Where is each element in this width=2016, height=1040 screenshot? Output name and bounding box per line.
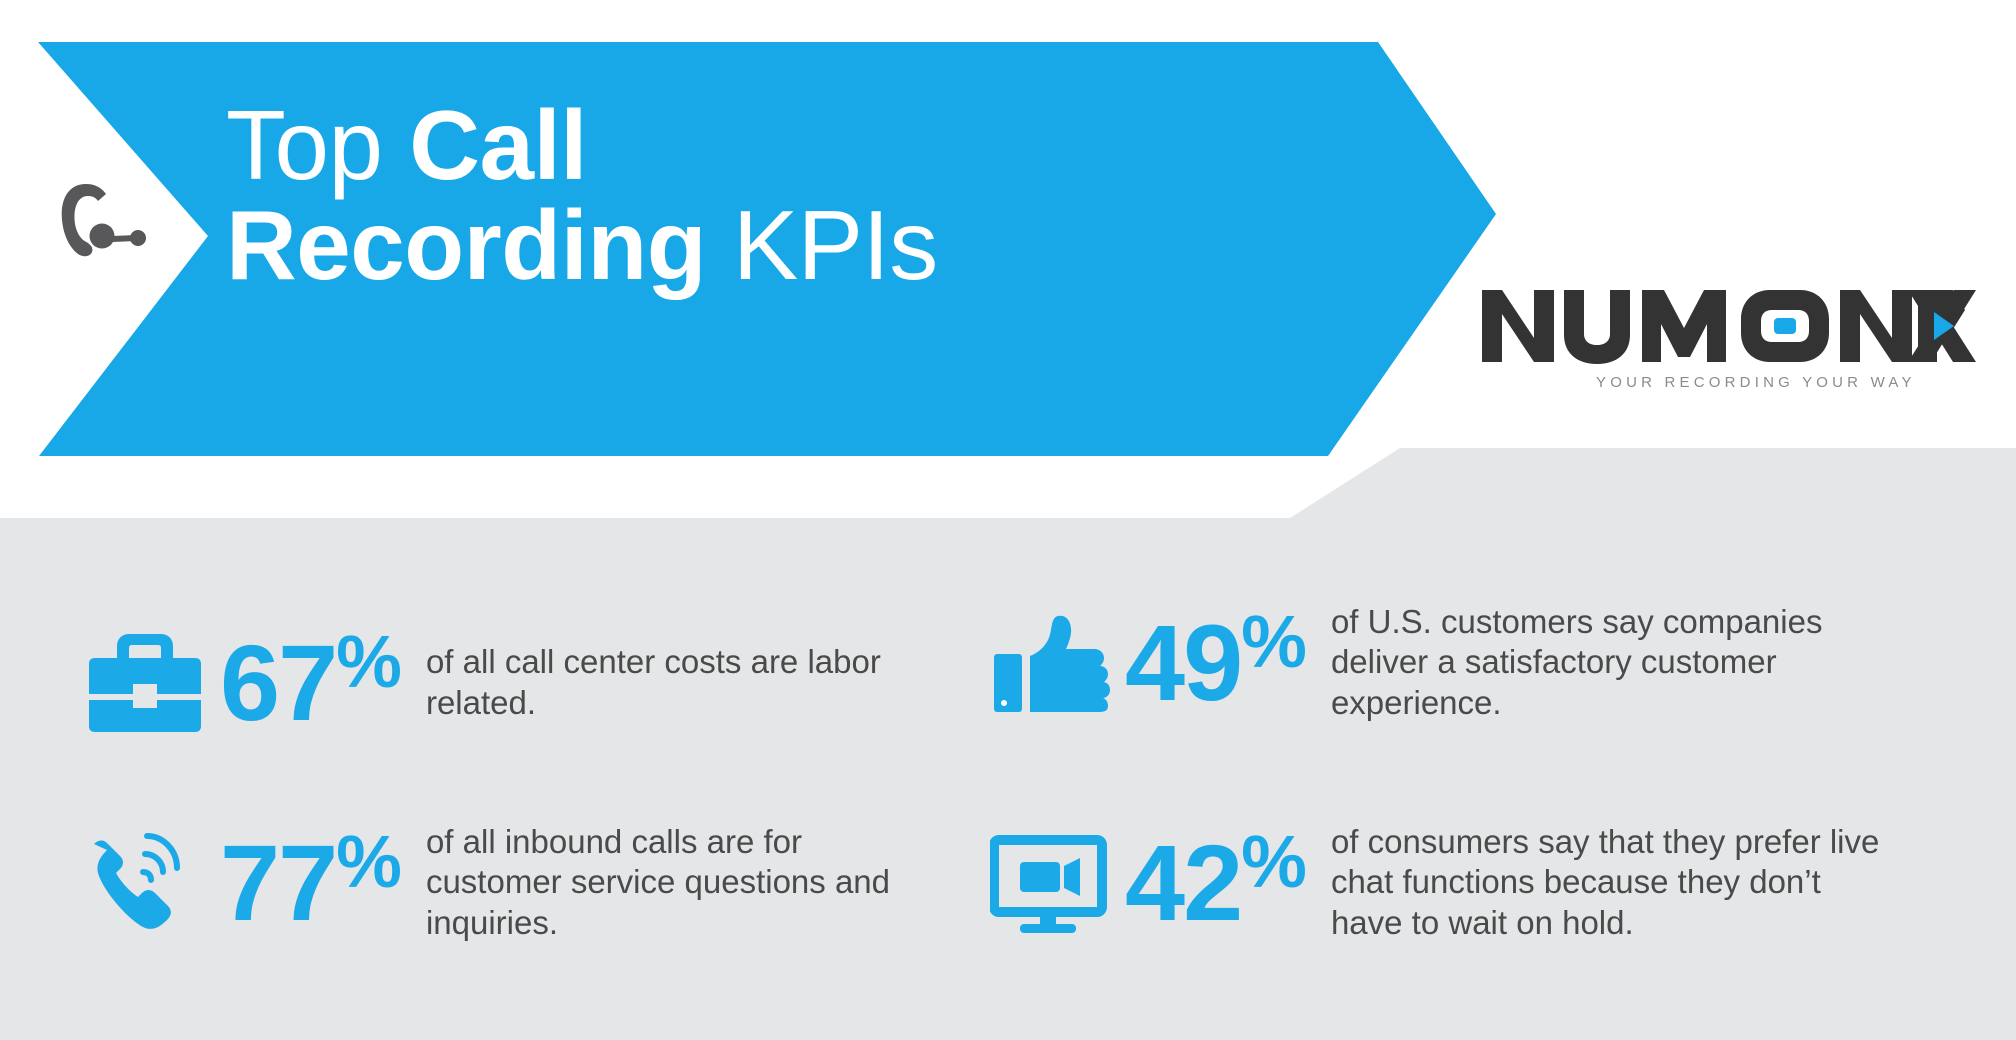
logo-tagline: YOUR RECORDING YOUR WAY: [1596, 374, 1916, 391]
stat-value: 77%: [220, 829, 400, 937]
stat-description: of all inbound calls are for customer se…: [426, 822, 946, 943]
stat-percent-sign: %: [336, 625, 400, 699]
stat-description: of consumers say that they prefer live c…: [1331, 822, 1891, 943]
stat-percent-sign: %: [1241, 825, 1305, 899]
stat-number-value: 49: [1125, 609, 1241, 717]
infographic-canvas: Top Call Recording KPIs: [0, 0, 2016, 1040]
stat-percent-sign: %: [336, 825, 400, 899]
video-monitor-icon: [985, 820, 1115, 945]
stat-value: 49%: [1125, 609, 1305, 717]
headset-icon: [52, 178, 148, 268]
stat-description: of all call center costs are labor relat…: [426, 642, 946, 723]
stat-number-value: 42: [1125, 829, 1241, 937]
stat-item-inbound-calls: 77% of all inbound calls are for custome…: [80, 820, 960, 945]
title-line-2: Recording KPIs: [226, 196, 938, 296]
stat-number-value: 67: [220, 629, 336, 737]
stat-item-satisfactory-experience: 49% of U.S. customers say companies deli…: [985, 600, 1965, 725]
title-top: Top: [226, 90, 409, 200]
thumbs-up-icon: [985, 600, 1115, 725]
stat-number-value: 77: [220, 829, 336, 937]
title-recording: Recording: [226, 190, 706, 300]
title-call: Call: [409, 90, 587, 200]
stats-grid: 67% of all call center costs are labor r…: [0, 590, 2016, 1030]
page-title: Top Call Recording KPIs: [226, 96, 938, 296]
title-line-1: Top Call: [226, 96, 938, 196]
briefcase-icon: [80, 620, 210, 745]
stat-description: of U.S. customers say companies deliver …: [1331, 602, 1891, 723]
stat-item-labor-costs: 67% of all call center costs are labor r…: [80, 620, 960, 745]
stat-value: 67%: [220, 629, 400, 737]
title-kpis: KPIs: [706, 190, 938, 300]
header-banner: Top Call Recording KPIs: [38, 42, 1496, 456]
stat-percent-sign: %: [1241, 605, 1305, 679]
stat-value: 42%: [1125, 829, 1305, 937]
stat-item-live-chat: 42% of consumers say that they prefer li…: [985, 820, 1965, 945]
phone-ringing-icon: [80, 820, 210, 945]
numonix-logo: YOUR RECORDING YOUR WAY: [1478, 286, 1978, 394]
